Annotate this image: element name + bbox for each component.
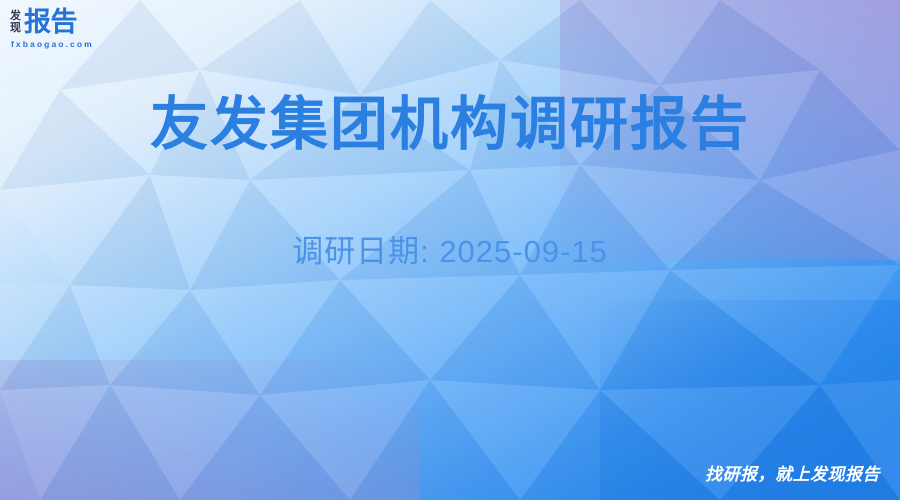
page-title: 友发集团机构调研报告 — [0, 90, 900, 160]
slogan-watermark: 找研报，就上发现报告 — [705, 464, 880, 486]
report-cover-slide: 发 现 报告 fxbaogao.com 友发集团机构调研报告 调研日期: 202… — [0, 0, 900, 500]
logo-mark-line1: 发 — [10, 10, 21, 22]
logo-wordmark: 报告 — [24, 8, 77, 36]
logo-mark-stack: 发 现 — [10, 10, 21, 34]
survey-date-subtitle: 调研日期: 2025-09-15 — [0, 232, 900, 272]
logo-mark-line2: 现 — [10, 22, 21, 34]
logo-wordmark-row: 发 现 报告 — [10, 8, 77, 36]
logo-domain-text: fxbaogao.com — [11, 39, 94, 49]
site-logo[interactable]: 发 现 报告 fxbaogao.com — [10, 8, 94, 49]
